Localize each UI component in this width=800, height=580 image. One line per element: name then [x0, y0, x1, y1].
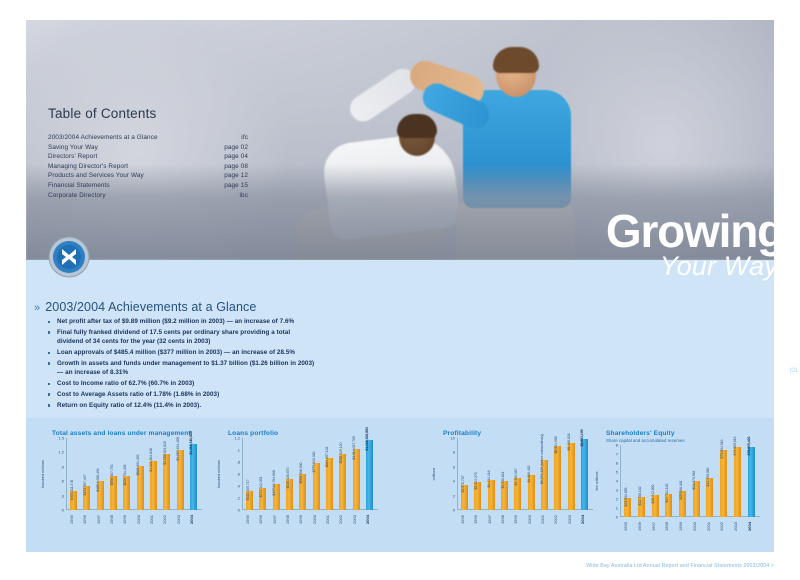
chart-x-tick-label: 1995 — [245, 515, 254, 524]
chart-bar-value-label: $374,142,051 — [259, 476, 263, 497]
toc-item[interactable]: Directors' Reportpage 04 — [48, 152, 248, 162]
chart-y-axis-label: hundred millions — [217, 460, 221, 488]
toc-item-label: Financial Statements — [48, 181, 110, 191]
chart-bar-group: $777,633,382 — [313, 438, 320, 510]
chart-x-tick-label: 2001 — [540, 515, 549, 524]
chart-bar: $437,14,764,968 — [273, 484, 280, 510]
chart-x-tick-label: 1998 — [285, 515, 294, 524]
chart-y-tick-label: 6 — [616, 461, 618, 466]
chart-plot-area: 0.2.4.6.811.2hundred millions$332,409,71… — [228, 438, 378, 524]
chart-bar: $1,166,303,020 — [163, 454, 170, 510]
chart-bar: $27,781,182 — [665, 494, 672, 517]
achievement-bullet-line: Loan approvals of $485.4 million ($377 m… — [57, 349, 295, 356]
chart-x-tick-label: 2001 — [705, 522, 714, 531]
chart-bar: $8,924,968 — [554, 446, 561, 510]
chart-x-tick-label: 2000 — [527, 515, 536, 524]
chart-plot-area: 012345678ten millions$21,052,855$22,788,… — [606, 445, 760, 531]
chart-bar: $938,429,120 — [339, 454, 346, 510]
chart-bar-value-label: $79,805,426 — [747, 436, 751, 455]
chart-bar-group: $21,052,855 — [624, 445, 631, 517]
chart-y-tick-label: 8 — [453, 450, 455, 455]
chart-bar: $608,908,030 — [299, 474, 306, 510]
chart-x-tick-label: 2000 — [312, 515, 321, 524]
chevron-right-icon: » — [34, 302, 40, 314]
chart-bar: $9,198,826 — [568, 443, 575, 510]
chart-bar: $79,909,615 — [734, 447, 741, 517]
chart-bar-group: $1,014,037,705 — [353, 438, 360, 510]
chart-x-tick-label: 2000 — [136, 515, 145, 524]
chart-x-tick-label: 2000 — [692, 522, 701, 531]
chart-x-tick-label: 1997 — [487, 515, 496, 524]
achievement-bullet: Cost to Income ratio of 62.7% (60.7% in … — [48, 379, 368, 388]
chart-x-tick-label: 2004 — [580, 515, 589, 524]
chart-bar-value-label: $332,409,717 — [246, 479, 250, 500]
chart-bar: $42,159,080 — [706, 478, 713, 517]
chart-bar-group: $938,429,120 — [339, 438, 346, 510]
chart-bar: $21,052,855 — [624, 498, 631, 517]
chart-x-tick-label: 1998 — [664, 522, 673, 531]
chart-x-tick-label: 2001 — [149, 515, 158, 524]
chart-y-tick-label: 1.5 — [58, 436, 64, 441]
chart-bar-value-label: $22,788,152 — [638, 487, 642, 506]
chart-x-tick-label: 1995 — [460, 515, 469, 524]
chart-x-tick-label: 2002 — [338, 515, 347, 524]
chart-x-tick-label: 1996 — [82, 515, 91, 524]
subheadline-your-way: Your Way — [660, 252, 778, 280]
annual-report-page: Table of Contents 2003/2004 Achievements… — [0, 0, 800, 580]
chart-bar-value-label: $485,1,936,491 — [96, 468, 100, 492]
chart-bar-value-label: $9,198,826 — [567, 434, 571, 451]
chart-bar-group: $4,886,402 — [528, 438, 535, 510]
chart-x-tick-label: 1995 — [69, 515, 78, 524]
toc-item[interactable]: Products and Services Your Waypage 12 — [48, 171, 248, 181]
chart-y-axis-label: millions — [432, 468, 436, 481]
toc-item-page: ifc — [241, 133, 248, 143]
toc-item-page: page 15 — [224, 181, 248, 191]
chart-bar-group: $9,893,195 — [581, 438, 588, 510]
chart-bar-group: $25,742,800 — [652, 445, 659, 517]
page-number-mark: |01 — [790, 368, 798, 374]
chart-bar: $4,406,067 — [514, 478, 521, 510]
chart-bar-group: $27,781,182 — [665, 445, 672, 517]
toc-title: Table of Contents — [48, 106, 248, 121]
toc-item-label: Directors' Report — [48, 152, 97, 162]
achievement-bullet: Loan approvals of $485.4 million ($377 m… — [48, 348, 368, 357]
chart-bar: $626,704,405 — [123, 476, 130, 510]
chart-bar-value-label: $820,194,453 — [136, 454, 140, 475]
chart-bar-group: $75,804,516 — [720, 445, 727, 517]
chart-bar-group: $6,974,120 (before extraordinary) — [541, 438, 548, 510]
chart-bar: $79,805,426 — [748, 447, 755, 517]
chart-bars: $3,575,767$3,924,370$4,214,416$4,040,811… — [458, 438, 591, 510]
chart-bar-value-label: $596,067,753 — [110, 465, 114, 486]
achievement-bullet-line: Return on Equity ratio of 12.4% (11.4% i… — [57, 402, 201, 409]
toc-item-label: Managing Director's Report — [48, 162, 128, 172]
achievement-bullet: Cost to Average Assets ratio of 1.78% (1… — [48, 390, 368, 399]
chart-x-tick-label: 2003 — [733, 522, 742, 531]
chart-bar-group: $437,14,764,968 — [273, 438, 280, 510]
chart-bar: $485,1,936,491 — [97, 481, 104, 510]
chart-bar: $4,886,402 — [528, 475, 535, 510]
chart-bar: $1,257,454,489 — [177, 450, 184, 510]
achievement-bullet: Return on Equity ratio of 12.4% (11.4% i… — [48, 401, 368, 410]
chart-x-tick-label: 1995 — [623, 522, 632, 531]
chart-bar: $75,804,516 — [720, 450, 727, 518]
achievement-bullet-line: Cost to Average Assets ratio of 1.78% (1… — [57, 391, 219, 398]
chart-bar-group: $485,1,936,491 — [97, 438, 104, 510]
chart-y-tick-label: 0 — [616, 515, 618, 520]
chart-y-tick-label: 8 — [616, 443, 618, 448]
table-of-contents: Table of Contents 2003/2004 Achievements… — [48, 106, 248, 200]
chart-y-axis: 012345678ten millions — [606, 445, 620, 517]
chart-x-tick-label: 2002 — [553, 515, 562, 524]
chart-bar-group: $79,805,426 — [748, 445, 755, 517]
chart-y-tick-label: 0 — [238, 508, 240, 513]
chart-bar-value-label: $31,270,584 — [692, 471, 696, 490]
chart-bar-group: $42,159,080 — [706, 445, 713, 517]
chart-bar: $1,366,346,828 — [190, 444, 197, 510]
chart-bar-value-label: $29,866,481 — [679, 480, 683, 499]
achievements-heading-text: 2003/2004 Achievements at a Glance — [45, 300, 256, 314]
chart-plot-area: 0.3.6.91.21.5hundred millions$403,111,47… — [52, 438, 202, 524]
chart-bar-group: $8,924,968 — [554, 438, 561, 510]
chart-bar-value-label: $1,166,368,883 — [365, 427, 369, 451]
chart-bar-value-label: $403,111,478 — [70, 480, 74, 500]
chart-bar: $820,194,453 — [137, 466, 144, 510]
chart-bar-group: $1,166,368,883 — [366, 438, 373, 510]
chart-bar-group: $9,198,826 — [568, 438, 575, 510]
chart-bar: $596,067,753 — [110, 476, 117, 510]
page-footer: Wide Bay Australia Ltd Annual Report and… — [586, 563, 774, 569]
chart-bar-value-label: $4,040,811 — [501, 472, 505, 489]
toc-item-page: page 12 — [224, 171, 248, 181]
chart-bar: $4,040,811 — [501, 481, 508, 510]
chart-bar-group: $1,257,454,489 — [177, 438, 184, 510]
chart-bar: $332,409,717 — [246, 491, 253, 510]
chart-bar-value-label: $1,021,804,848 — [149, 448, 153, 472]
achievement-bullet-line-continued: — an increase of 8.31% — [57, 368, 368, 377]
chart-bar: $29,866,481 — [679, 491, 686, 517]
chart-bars: $21,052,855$22,788,152$25,742,800$27,781… — [621, 445, 758, 517]
chart-bar: $9,893,195 — [581, 439, 588, 510]
chart-x-tick-label: 2003 — [567, 515, 576, 524]
chart-y-axis-label: ten millions — [595, 472, 599, 491]
chart-x-tick-label: 1999 — [678, 522, 687, 531]
chart-bar: $1,014,037,705 — [353, 449, 360, 510]
chart-total-assets: Total assets and loans under management0… — [52, 430, 202, 524]
chart-y-tick-label: 2 — [616, 497, 618, 502]
chart-bar: $777,633,382 — [313, 463, 320, 510]
chart-bars: $332,409,717$374,142,051$437,14,764,968$… — [243, 438, 376, 510]
chart-bar-group: $526,100,670 — [286, 438, 293, 510]
chart-bar-group: $403,111,478 — [70, 438, 77, 510]
toc-item[interactable]: 2003/2004 Achievements at a Glanceifc — [48, 133, 248, 143]
chart-x-axis-labels: 1995199619971998199920002001200220032004 — [67, 511, 200, 524]
chart-x-tick-label: 1998 — [500, 515, 509, 524]
toc-item-page: page 02 — [224, 143, 248, 153]
chart-x-tick-label: 2004 — [747, 522, 756, 531]
chart-bar: $453,557,407 — [83, 486, 90, 510]
chart-y-tick-label: 1.2 — [234, 436, 240, 441]
chart-y-tick-label: .8 — [237, 460, 240, 465]
chart-y-tick-label: .6 — [237, 472, 240, 477]
chart-bar-value-label: $4,886,402 — [527, 465, 531, 482]
toc-list: 2003/2004 Achievements at a GlanceifcSav… — [48, 133, 248, 200]
chart-bar-value-label: $1,014,037,705 — [352, 436, 356, 460]
chart-x-tick-label: 1996 — [473, 515, 482, 524]
chart-bar-group: $4,214,416 — [488, 438, 495, 510]
chart-y-tick-label: 5 — [616, 470, 618, 475]
chart-y-axis: 0.3.6.91.21.5hundred millions — [52, 438, 66, 510]
toc-item-page: page 08 — [224, 162, 248, 172]
chart-bar-group: $3,924,370 — [474, 438, 481, 510]
chart-x-tick-label: 2004 — [365, 515, 374, 524]
chart-y-tick-label: 4 — [616, 479, 618, 484]
chart-bar-value-label: $938,429,120 — [339, 442, 343, 463]
chart-y-tick-label: .9 — [61, 464, 64, 469]
chart-bar-group: $29,866,481 — [679, 445, 686, 517]
chart-bar-value-label: $777,633,382 — [312, 452, 316, 473]
toc-item[interactable]: Financial Statementspage 15 — [48, 181, 248, 191]
chart-bar-value-label: $626,704,405 — [123, 465, 127, 486]
chart-bar: $374,142,051 — [259, 488, 266, 510]
chart-bar: $526,100,670 — [286, 479, 293, 510]
chart-y-tick-label: .3 — [61, 493, 64, 498]
chart-bar-group: $4,040,811 — [501, 438, 508, 510]
chart-bar-group: $22,788,152 — [638, 445, 645, 517]
chart-bar-group: $626,704,405 — [123, 438, 130, 510]
chart-x-tick-label: 1997 — [272, 515, 281, 524]
chart-bar-group: $1,366,346,828 — [190, 438, 197, 510]
chart-x-axis-labels: 1995199619971998199920002001200220032004 — [458, 511, 591, 524]
chart-y-tick-label: .6 — [61, 479, 64, 484]
headline-growing: Growing — [606, 208, 784, 254]
achievement-bullet-line-continued: dividend of 34 cents for the year (32 ce… — [57, 337, 368, 346]
chart-bar-value-label: $608,908,030 — [299, 463, 303, 484]
chart-bar-value-label: $25,742,800 — [651, 484, 655, 503]
chart-y-tick-label: 0 — [62, 508, 64, 513]
person-back-hair — [397, 114, 437, 138]
chart-bar-group: $608,908,030 — [299, 438, 306, 510]
chart-shareholders-equity: Shareholders' EquityShare capital and ac… — [606, 430, 760, 531]
chart-bar-value-label: $42,159,080 — [706, 468, 710, 487]
chart-bar-value-label: $526,100,670 — [286, 467, 290, 488]
chart-y-tick-label: 2 — [453, 493, 455, 498]
toc-item[interactable]: Managing Director's Reportpage 08 — [48, 162, 248, 172]
chart-bar-value-label: $864,857,134 — [325, 447, 329, 468]
chart-y-tick-label: 6 — [453, 464, 455, 469]
toc-item-label: 2003/2004 Achievements at a Glance — [48, 133, 158, 143]
chart-bar-group: $1,021,804,848 — [150, 438, 157, 510]
achievement-bullet-line: Cost to Income ratio of 62.7% (60.7% in … — [57, 380, 194, 387]
chart-bar: $6,974,120 (before extraordinary) — [541, 460, 548, 510]
chart-bar-value-label: $79,909,615 — [733, 436, 737, 455]
toc-item-page: ibc — [240, 191, 248, 201]
chart-x-axis-labels: 1995199619971998199920002001200220032004 — [621, 518, 758, 531]
chart-bar-value-label: $1,366,346,828 — [189, 431, 193, 455]
chart-y-tick-label: 1 — [616, 506, 618, 511]
chart-y-tick-label: 1 — [238, 448, 240, 453]
chart-y-axis: 0.2.4.6.811.2hundred millions — [228, 438, 242, 510]
chart-y-tick-label: 0 — [453, 508, 455, 513]
chart-y-axis-label: hundred millions — [41, 460, 45, 488]
chart-bar: $1,166,368,883 — [366, 440, 373, 510]
chart-bar-group: $864,857,134 — [326, 438, 333, 510]
chart-bar-value-label: $4,214,416 — [487, 470, 491, 487]
achievement-bullet-line: Final fully franked dividend of 17.5 cen… — [57, 329, 290, 336]
chart-loans-portfolio: Loans portfolio0.2.4.6.811.2hundred mill… — [228, 430, 378, 524]
achievements-heading: »2003/2004 Achievements at a Glance — [34, 300, 256, 314]
chart-bar-group: $596,067,753 — [110, 438, 117, 510]
achievement-bullet-line: Net profit after tax of $9.89 million ($… — [57, 318, 294, 325]
chart-bar: $31,270,584 — [693, 481, 700, 517]
chart-bar-value-label: $1,257,454,489 — [176, 437, 180, 461]
chart-bar: $4,214,416 — [488, 480, 495, 510]
chart-bars: $403,111,478$453,557,407$485,1,936,491$5… — [67, 438, 200, 510]
chart-bar: $3,924,370 — [474, 482, 481, 510]
chart-x-axis-labels: 1995199619971998199920002001200220032004 — [243, 511, 376, 524]
chart-x-tick-label: 1996 — [637, 522, 646, 531]
toc-item[interactable]: Saving Your Waypage 02 — [48, 143, 248, 153]
toc-item-page: page 04 — [224, 152, 248, 162]
chart-x-tick-label: 2002 — [162, 515, 171, 524]
wide-bay-australia-logo — [48, 236, 90, 278]
chart-bar: $25,742,800 — [652, 495, 659, 518]
chart-y-tick-label: 3 — [616, 488, 618, 493]
chart-bar-group: $374,142,051 — [259, 438, 266, 510]
toc-item-label: Saving Your Way — [48, 143, 98, 153]
chart-bar: $1,021,804,848 — [150, 461, 157, 510]
chart-x-tick-label: 1996 — [258, 515, 267, 524]
chart-x-tick-label: 1998 — [109, 515, 118, 524]
achievement-bullet: Growth in assets and funds under managem… — [48, 359, 368, 378]
chart-x-tick-label: 2001 — [325, 515, 334, 524]
chart-bar-value-label: $453,557,407 — [83, 475, 87, 496]
person-front-hair — [493, 47, 539, 73]
chart-x-tick-label: 2003 — [176, 515, 185, 524]
chart-bar-group: $453,557,407 — [83, 438, 90, 510]
chart-bar-group: $332,409,717 — [246, 438, 253, 510]
chart-x-tick-label: 1999 — [122, 515, 131, 524]
chart-bar-value-label: $75,804,516 — [720, 439, 724, 458]
chart-bar-value-label: $1,166,303,020 — [163, 441, 167, 465]
achievements-bullet-list: Net profit after tax of $9.89 million ($… — [48, 317, 368, 411]
chart-bar-value-label: $8,924,968 — [554, 436, 558, 453]
chart-bar-value-label: $437,14,764,968 — [272, 470, 276, 495]
toc-item-label: Corporate Directory — [48, 191, 106, 201]
chart-y-tick-label: .2 — [237, 496, 240, 501]
toc-item[interactable]: Corporate Directoryibc — [48, 191, 248, 201]
chart-bar-group: $820,194,453 — [137, 438, 144, 510]
chart-x-tick-label: 1997 — [96, 515, 105, 524]
chart-bar-group: $1,166,303,020 — [163, 438, 170, 510]
chart-bar-value-label: $4,406,067 — [514, 469, 518, 486]
chart-y-tick-label: 7 — [616, 452, 618, 457]
chart-bar-group: $79,909,615 — [734, 445, 741, 517]
chart-profitability: Profitability0246810millions$3,575,767$3… — [443, 430, 593, 524]
chart-y-tick-label: .4 — [237, 484, 240, 489]
chart-bar-value-label: $27,781,182 — [665, 483, 669, 502]
chart-bar-group: $31,270,584 — [693, 445, 700, 517]
chart-y-tick-label: 4 — [453, 479, 455, 484]
chart-y-tick-label: 10 — [451, 436, 455, 441]
achievement-bullet-line: Growth in assets and funds under managem… — [57, 360, 314, 367]
chart-x-tick-label: 2002 — [719, 522, 728, 531]
chart-y-tick-label: 1.2 — [58, 450, 64, 455]
chart-plot-area: 0246810millions$3,575,767$3,924,370$4,21… — [443, 438, 593, 524]
chart-bar-group: $3,575,767 — [461, 438, 468, 510]
toc-item-label: Products and Services Your Way — [48, 171, 144, 181]
chart-bar-value-label: $3,924,370 — [474, 472, 478, 489]
chart-bar: $403,111,478 — [70, 491, 77, 510]
chart-x-tick-label: 2003 — [352, 515, 361, 524]
chart-bar: $864,857,134 — [326, 458, 333, 510]
chart-x-tick-label: 1999 — [298, 515, 307, 524]
achievement-bullet: Final fully franked dividend of 17.5 cen… — [48, 328, 368, 347]
chart-y-axis: 0246810millions — [443, 438, 457, 510]
chart-x-tick-label: 1999 — [513, 515, 522, 524]
chart-x-tick-label: 1997 — [651, 522, 660, 531]
chart-bar-value-label: $3,575,767 — [461, 475, 465, 492]
achievement-bullet: Net profit after tax of $9.89 million ($… — [48, 317, 368, 326]
chart-x-tick-label: 2004 — [189, 515, 198, 524]
chart-bar-value-label: $9,893,195 — [580, 429, 584, 446]
chart-bar: $22,788,152 — [638, 497, 645, 517]
chart-bar-value-label: $6,974,120 (before extraordinary) — [540, 433, 544, 483]
chart-bar-value-label: $21,052,855 — [624, 488, 628, 507]
chart-bar: $3,575,767 — [461, 485, 468, 510]
chart-bar-group: $4,406,067 — [514, 438, 521, 510]
